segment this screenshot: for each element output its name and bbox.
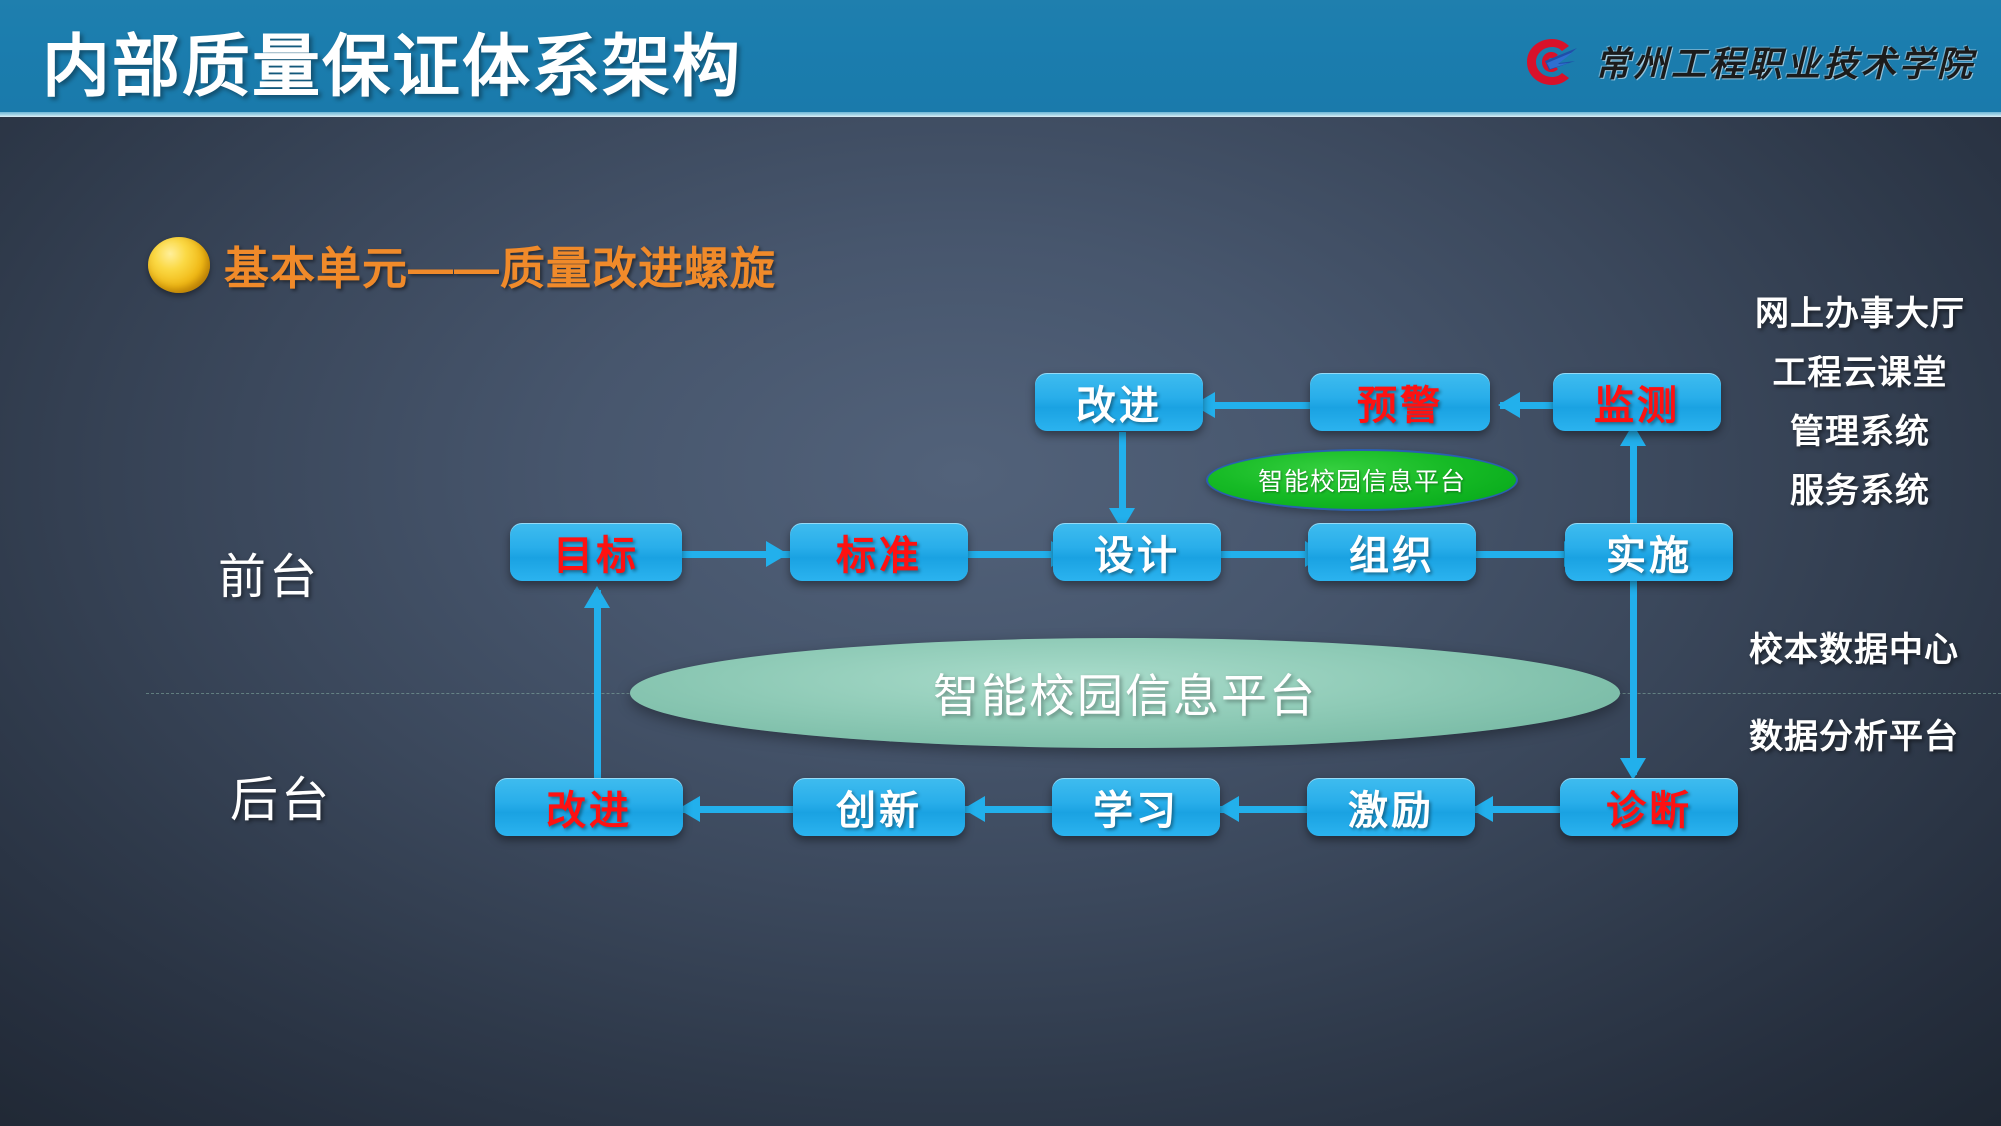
node-yujing[interactable]: 预警 <box>1310 373 1490 431</box>
arrowhead-mubiao-to-biaozhun <box>766 541 788 567</box>
node-label: 诊断 <box>1606 778 1692 836</box>
header-underline <box>0 112 2001 117</box>
side-label-data-analysis: 数据分析平台 <box>1714 709 1994 758</box>
institution-logo: 常州工程职业技术学院 <box>1525 36 1975 87</box>
node-label: 学习 <box>1093 778 1179 836</box>
arrowhead-jili-to-xuexi <box>1217 796 1239 822</box>
smart-campus-platform-label-large: 智能校园信息平台 <box>933 660 1317 726</box>
node-label: 监测 <box>1594 373 1680 431</box>
page-title: 内部质量保证体系架构 <box>42 11 742 110</box>
side-label-data-center: 校本数据中心 <box>1714 622 1994 671</box>
gold-sphere-bullet-icon <box>148 237 210 293</box>
node-shishi[interactable]: 实施 <box>1565 523 1733 581</box>
logo-text: 常州工程职业技术学院 <box>1595 36 1975 87</box>
arrowhead-jiance-to-yujing <box>1498 392 1520 418</box>
node-gaijin-top[interactable]: 改进 <box>1035 373 1203 431</box>
side-label-service-system: 服务系统 <box>1726 463 1994 512</box>
node-label: 设计 <box>1094 523 1180 581</box>
node-label: 激励 <box>1348 778 1434 836</box>
node-label: 实施 <box>1606 523 1692 581</box>
node-zuzhi[interactable]: 组织 <box>1308 523 1476 581</box>
systems-label-group: 网上办事大厅 工程云课堂 管理系统 服务系统 <box>1726 286 1994 522</box>
side-label-cloud-class: 工程云课堂 <box>1726 345 1994 394</box>
node-label: 预警 <box>1357 373 1443 431</box>
side-label-mgmt-system: 管理系统 <box>1726 404 1994 453</box>
node-label: 改进 <box>1076 373 1162 431</box>
arrowhead-shishi-to-zhenduan <box>1620 758 1646 780</box>
section-heading-label: 基本单元——质量改进螺旋 <box>224 232 776 297</box>
smart-campus-platform-label-small: 智能校园信息平台 <box>1258 462 1466 498</box>
smart-campus-platform-ellipse-large: 智能校园信息平台 <box>630 638 1620 748</box>
slide-canvas: 内部质量保证体系架构 常州工程职业技术学院 基本单元——质量改进螺旋 前台 后台… <box>0 0 2001 1126</box>
node-label: 组织 <box>1349 523 1435 581</box>
node-biaozhun[interactable]: 标准 <box>790 523 968 581</box>
side-label-online-hall: 网上办事大厅 <box>1726 286 1994 335</box>
arrowhead-xuexi-to-chuangxin <box>963 796 985 822</box>
node-zhenduan[interactable]: 诊断 <box>1560 778 1738 836</box>
smart-campus-platform-ellipse-small: 智能校园信息平台 <box>1206 449 1518 511</box>
connector-shishi-to-zhenduan <box>1630 580 1637 775</box>
section-heading: 基本单元——质量改进螺旋 <box>148 232 776 297</box>
university-emblem-icon <box>1525 37 1581 87</box>
node-label: 改进 <box>546 778 632 836</box>
stage-label-back: 后台 <box>230 760 332 830</box>
arrowhead-gaijin-to-mubiao <box>584 586 610 608</box>
node-jiance[interactable]: 监测 <box>1553 373 1721 431</box>
node-label: 目标 <box>553 523 639 581</box>
node-sheji[interactable]: 设计 <box>1053 523 1221 581</box>
data-label-group: 校本数据中心 数据分析平台 <box>1714 622 1994 796</box>
stage-label-front: 前台 <box>218 537 320 607</box>
node-jili[interactable]: 激励 <box>1307 778 1475 836</box>
node-chuangxin[interactable]: 创新 <box>793 778 965 836</box>
node-gaijin-bottom[interactable]: 改进 <box>495 778 683 836</box>
node-label: 创新 <box>836 778 922 836</box>
node-label: 标准 <box>836 523 922 581</box>
connector-shishi-to-jiance <box>1630 432 1637 537</box>
node-mubiao[interactable]: 目标 <box>510 523 682 581</box>
node-xuexi[interactable]: 学习 <box>1052 778 1220 836</box>
connector-gaijin-to-mubiao <box>594 590 601 785</box>
